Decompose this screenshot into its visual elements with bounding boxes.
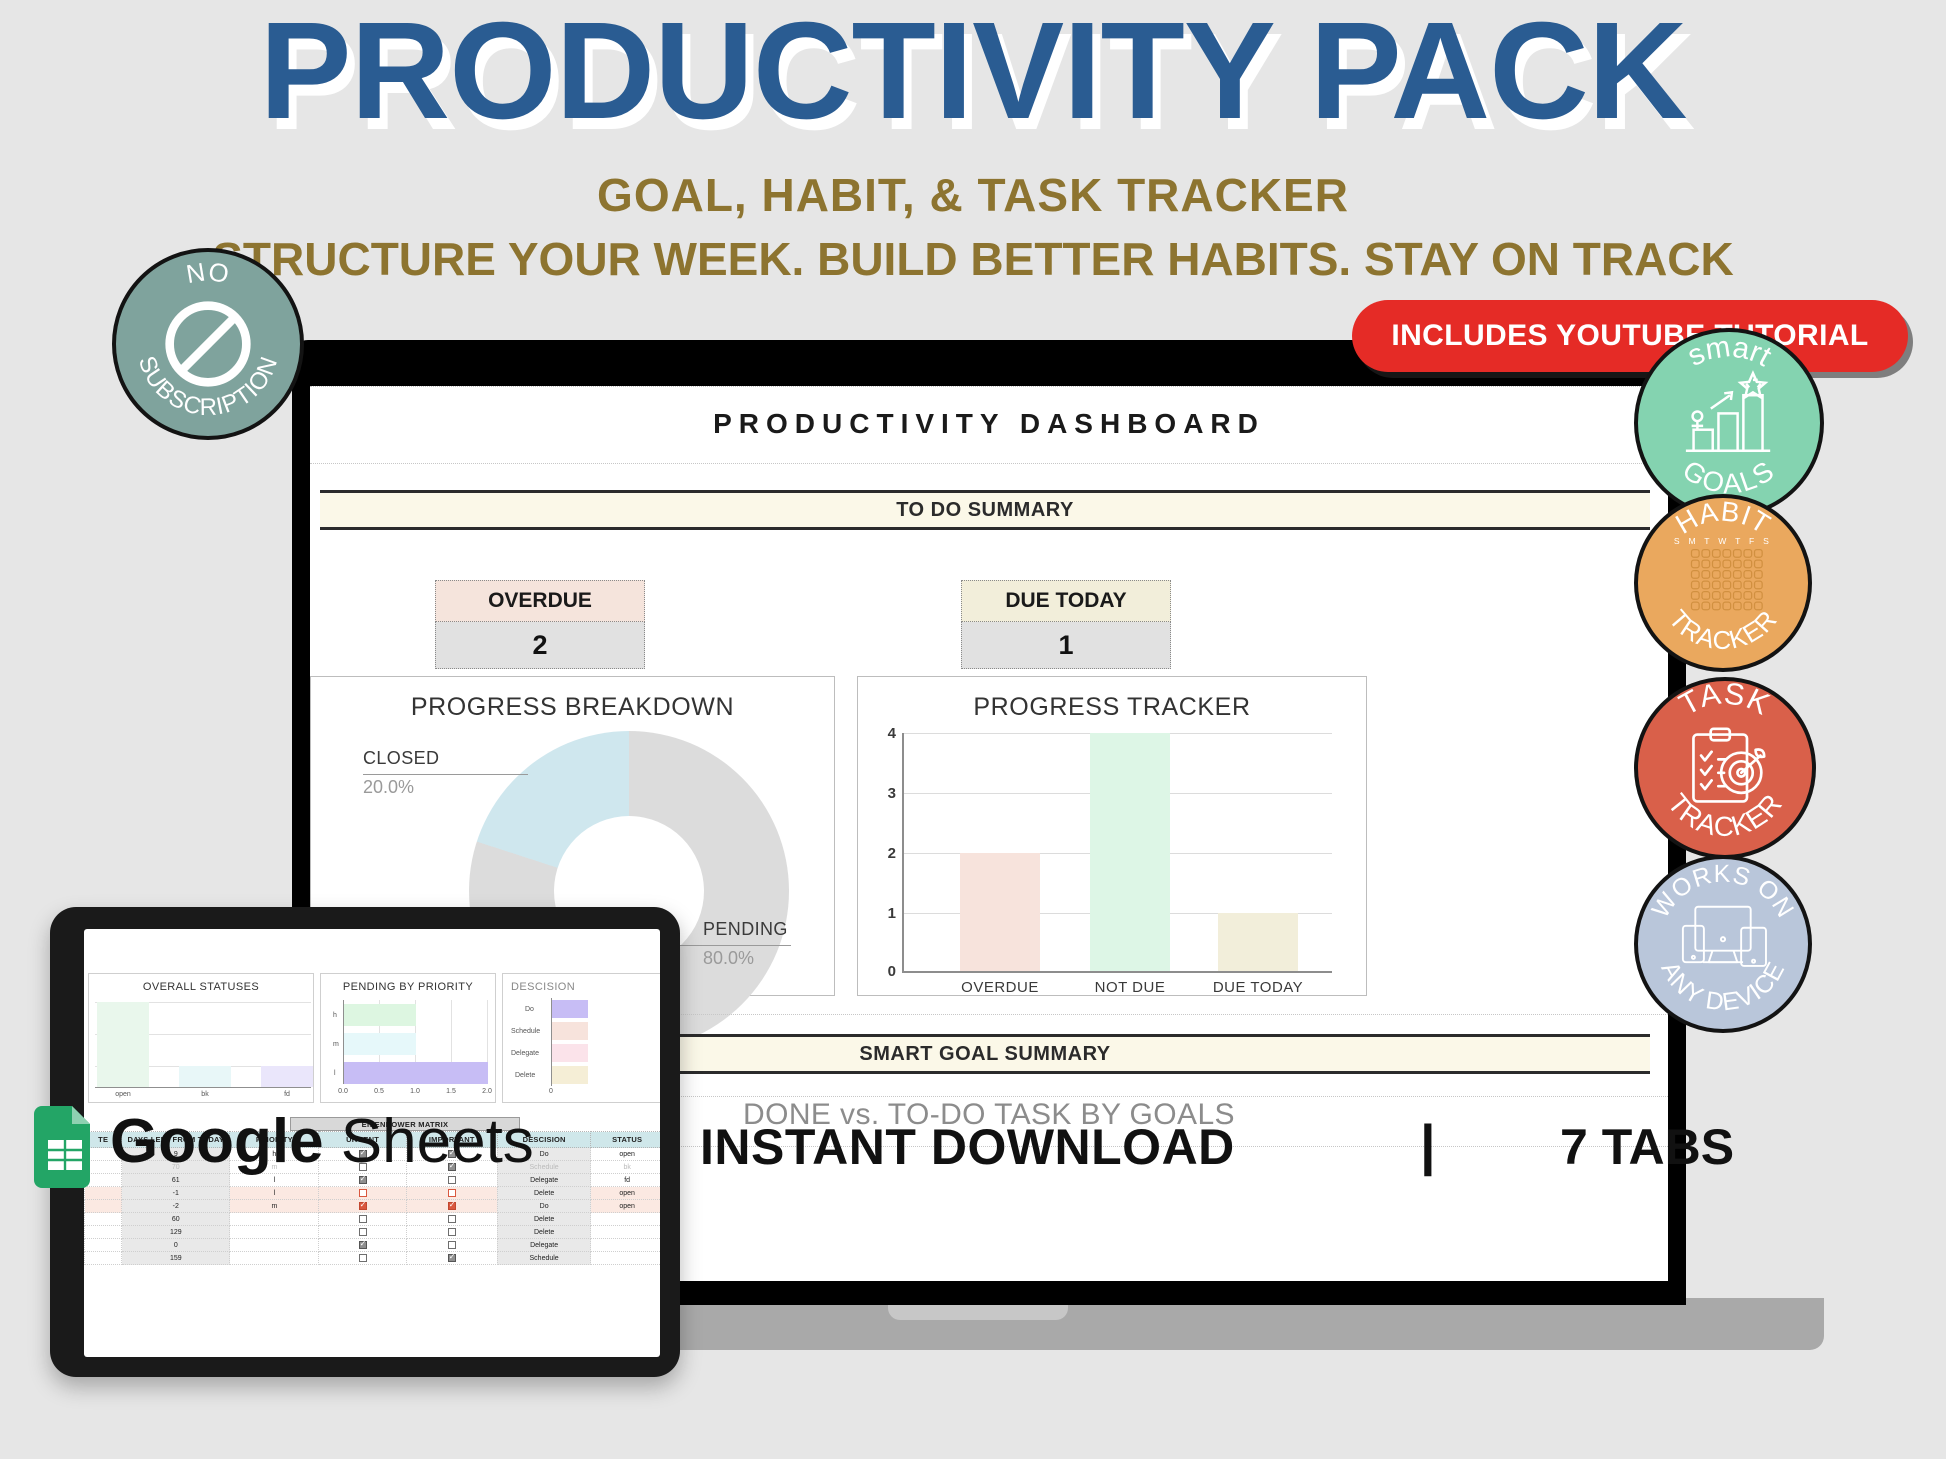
svg-text:S M T W T F S: S M T W T F S (1674, 536, 1772, 546)
progress-tracker-panel: PROGRESS TRACKER 4 3 2 1 0 OVERDUE (857, 676, 1367, 996)
cell-descision: Delete (497, 1226, 590, 1239)
cell-descision: Schedule (497, 1252, 590, 1265)
cell-important[interactable] (406, 1226, 497, 1239)
svg-text:SUBSCRIPTION: SUBSCRIPTION (133, 353, 284, 422)
cell-te (85, 1187, 122, 1200)
cell-days-left: -1 (122, 1187, 230, 1200)
cell-status: open (591, 1187, 660, 1200)
badge-any-device: WORKS ON ANY DEVICE (1634, 855, 1812, 1033)
cell-status (591, 1226, 660, 1239)
checkbox[interactable] (448, 1202, 456, 1210)
cell-status (591, 1252, 660, 1265)
cell-te (85, 1200, 122, 1213)
checkbox[interactable] (359, 1254, 367, 1262)
table-row[interactable]: 129Delete (85, 1226, 661, 1239)
cell-descision: Delete (497, 1213, 590, 1226)
tb-xlbl-bk: bk (175, 1091, 235, 1098)
checkbox[interactable] (359, 1228, 367, 1236)
y-tick-3: 3 (874, 785, 896, 802)
dashboard-title: PRODUCTIVITY DASHBOARD (310, 408, 1668, 440)
cell-days-left: 129 (122, 1226, 230, 1239)
google-sheets-logo (34, 1106, 96, 1188)
google-word: Google (110, 1107, 324, 1176)
kpi-overdue: OVERDUE 2 (435, 580, 645, 669)
tb-xlbl-open: open (93, 1091, 153, 1098)
cell-status: bk (591, 1161, 660, 1174)
cell-important[interactable] (406, 1252, 497, 1265)
table-row[interactable]: -1lDeleteopen (85, 1187, 661, 1200)
devices-icon: WORKS ON ANY DEVICE (1638, 855, 1808, 1033)
x-label-overdue: OVERDUE (940, 979, 1060, 996)
checkbox[interactable] (448, 1228, 456, 1236)
cell-important[interactable] (406, 1213, 497, 1226)
cell-priority (230, 1226, 319, 1239)
descision-panel: DESCISION Do Schedule Delegate Delete 0 (502, 973, 660, 1103)
x-label-due-today: DUE TODAY (1198, 979, 1318, 996)
cell-priority: l (230, 1187, 319, 1200)
progress-breakdown-title: PROGRESS BREAKDOWN (311, 693, 834, 722)
tb-bar-m (344, 1033, 416, 1055)
cell-descision: Do (497, 1200, 590, 1213)
todo-summary-band: TO DO SUMMARY (320, 490, 1650, 530)
cell-urgent[interactable] (319, 1226, 406, 1239)
tb-bar-delete (552, 1066, 588, 1084)
page-subtitle-1: GOAL, HABIT, & TASK TRACKER (0, 168, 1946, 222)
cell-priority (230, 1213, 319, 1226)
tb-bar-h (344, 1004, 416, 1026)
tb-xtick-zero: 0 (537, 1088, 565, 1095)
cell-days-left: -2 (122, 1200, 230, 1213)
badge-smart-goals: smart GOALS (1634, 328, 1824, 518)
cell-important[interactable] (406, 1187, 497, 1200)
closed-label: CLOSED (363, 748, 439, 769)
table-row[interactable]: 60Delete (85, 1213, 661, 1226)
cell-te (85, 1252, 122, 1265)
tb-bar-l (344, 1062, 488, 1084)
checkbox[interactable] (448, 1241, 456, 1249)
overall-statuses-title: OVERALL STATUSES (89, 981, 313, 993)
tb-bar-do (552, 1000, 588, 1018)
svg-text:TRACKER: TRACKER (1662, 788, 1789, 842)
tb-xtick-1: 0.5 (365, 1088, 393, 1095)
sheets-word: Sheets (324, 1107, 534, 1176)
kpi-overdue-value: 2 (435, 622, 645, 669)
clipboard-target-icon: TASK TRACKER (1638, 677, 1812, 859)
closed-leader-line (363, 774, 528, 775)
cell-te (85, 1213, 122, 1226)
tb-bar-schedule (552, 1022, 588, 1040)
cell-descision: Delegate (497, 1239, 590, 1252)
svg-text:TASK: TASK (1674, 677, 1776, 722)
instant-download-label: INSTANT DOWNLOAD (700, 1118, 1235, 1176)
svg-text:HABIT: HABIT (1670, 495, 1776, 540)
badge-task-tracker: TASK TRACKER (1634, 677, 1816, 859)
th-status: STATUS (591, 1132, 660, 1148)
checkbox[interactable] (448, 1254, 456, 1262)
tb-ylbl-do: Do (525, 1006, 534, 1013)
svg-text:WORKS ON: WORKS ON (1647, 861, 1799, 923)
cell-days-left: 159 (122, 1252, 230, 1265)
svg-text:smart: smart (1682, 330, 1777, 373)
cell-status: fd (591, 1174, 660, 1187)
pending-percent: 80.0% (703, 948, 754, 969)
cell-priority (230, 1239, 319, 1252)
cell-urgent[interactable] (319, 1187, 406, 1200)
tb-xtick-2: 1.0 (401, 1088, 429, 1095)
checkbox[interactable] (359, 1176, 367, 1184)
cell-important[interactable] (406, 1239, 497, 1252)
y-tick-4: 4 (874, 725, 896, 742)
svg-text:TRACKER: TRACKER (1663, 605, 1783, 655)
tb-xtick-4: 2.0 (473, 1088, 501, 1095)
svg-text:ANY DEVICE: ANY DEVICE (1655, 957, 1790, 1016)
tb-bar-delegate (552, 1044, 588, 1062)
bar-not-due (1090, 733, 1170, 971)
cell-days-left: 60 (122, 1213, 230, 1226)
cell-te (85, 1226, 122, 1239)
cell-urgent[interactable] (319, 1252, 406, 1265)
pending-label: PENDING (703, 919, 788, 940)
pending-by-priority-panel: PENDING BY PRIORITY h m l 0.0 0.5 1.0 1.… (320, 973, 496, 1103)
svg-text:GOALS: GOALS (1677, 454, 1780, 500)
checkbox[interactable] (359, 1189, 367, 1197)
kpi-overdue-label: OVERDUE (435, 580, 645, 622)
footer-divider: | (1420, 1112, 1436, 1177)
badge-no-subscription: NO SUBSCRIPTION (112, 248, 304, 440)
closed-percent: 20.0% (363, 777, 414, 798)
y-tick-2: 2 (874, 845, 896, 862)
no-entry-icon: NO SUBSCRIPTION (116, 248, 300, 440)
bar-due-today (1218, 913, 1298, 971)
tb-xtick-0: 0.0 (329, 1088, 357, 1095)
progress-tracker-title: PROGRESS TRACKER (858, 693, 1366, 722)
tabs-count-label: 7 TABS (1560, 1118, 1734, 1176)
tb-bar-bk (179, 1066, 231, 1087)
cell-priority (230, 1252, 319, 1265)
checkbox[interactable] (448, 1189, 456, 1197)
cell-important[interactable] (406, 1200, 497, 1213)
descision-title: DESCISION (503, 981, 660, 993)
cell-te (85, 1239, 122, 1252)
tb-ylbl-l: l (334, 1070, 336, 1077)
checkbox[interactable] (448, 1176, 456, 1184)
youtube-tutorial-badge[interactable]: INCLUDES YOUTUBE TUTORIAL (1352, 300, 1908, 372)
growth-chart-icon: smart GOALS (1638, 328, 1820, 518)
tb-xtick-3: 1.5 (437, 1088, 465, 1095)
checkbox[interactable] (448, 1215, 456, 1223)
tb-bar-fd (261, 1066, 313, 1087)
overall-statuses-panel: OVERALL STATUSES open bk fd (88, 973, 314, 1103)
svg-text:NO: NO (184, 258, 231, 289)
checkbox[interactable] (359, 1202, 367, 1210)
y-tick-1: 1 (874, 905, 896, 922)
tb-ylbl-delete: Delete (515, 1072, 535, 1079)
table-row[interactable]: -2mDoopen (85, 1200, 661, 1213)
google-sheets-wordmark: Google Sheets (110, 1106, 534, 1177)
badge-habit-tracker: HABIT TRACKER S M T W T F S (1634, 494, 1812, 672)
cell-urgent[interactable] (319, 1213, 406, 1226)
page-title: PRODUCTIVITY PACK (0, 2, 1946, 140)
tb-ylbl-h: h (333, 1012, 337, 1019)
tb-ylbl-schedule: Schedule (511, 1028, 540, 1035)
checkbox[interactable] (359, 1241, 367, 1249)
x-axis (902, 971, 1332, 973)
tb-ylbl-m: m (333, 1041, 339, 1048)
tb-ylbl-delegate: Delegate (511, 1050, 539, 1057)
cell-urgent[interactable] (319, 1239, 406, 1252)
cell-priority: m (230, 1200, 319, 1213)
habit-grid-icon: HABIT TRACKER S M T W T F S (1638, 494, 1808, 672)
cell-status: open (591, 1148, 660, 1161)
x-label-not-due: NOT DUE (1070, 979, 1190, 996)
tb-xlbl-fd: fd (257, 1091, 317, 1098)
cell-status (591, 1239, 660, 1252)
cell-descision: Delete (497, 1187, 590, 1200)
cell-status (591, 1213, 660, 1226)
kpi-due-today-label: DUE TODAY (961, 580, 1171, 622)
y-tick-0: 0 (874, 963, 896, 980)
table-row[interactable]: 0Delegate (85, 1239, 661, 1252)
checkbox[interactable] (359, 1215, 367, 1223)
bar-overdue (960, 853, 1040, 971)
cell-status: open (591, 1200, 660, 1213)
kpi-due-today: DUE TODAY 1 (961, 580, 1171, 669)
pending-by-priority-title: PENDING BY PRIORITY (321, 981, 495, 993)
table-row[interactable]: 159Schedule (85, 1252, 661, 1265)
cell-days-left: 0 (122, 1239, 230, 1252)
tb-bar-open (97, 1002, 149, 1087)
kpi-due-today-value: 1 (961, 622, 1171, 669)
cell-urgent[interactable] (319, 1200, 406, 1213)
